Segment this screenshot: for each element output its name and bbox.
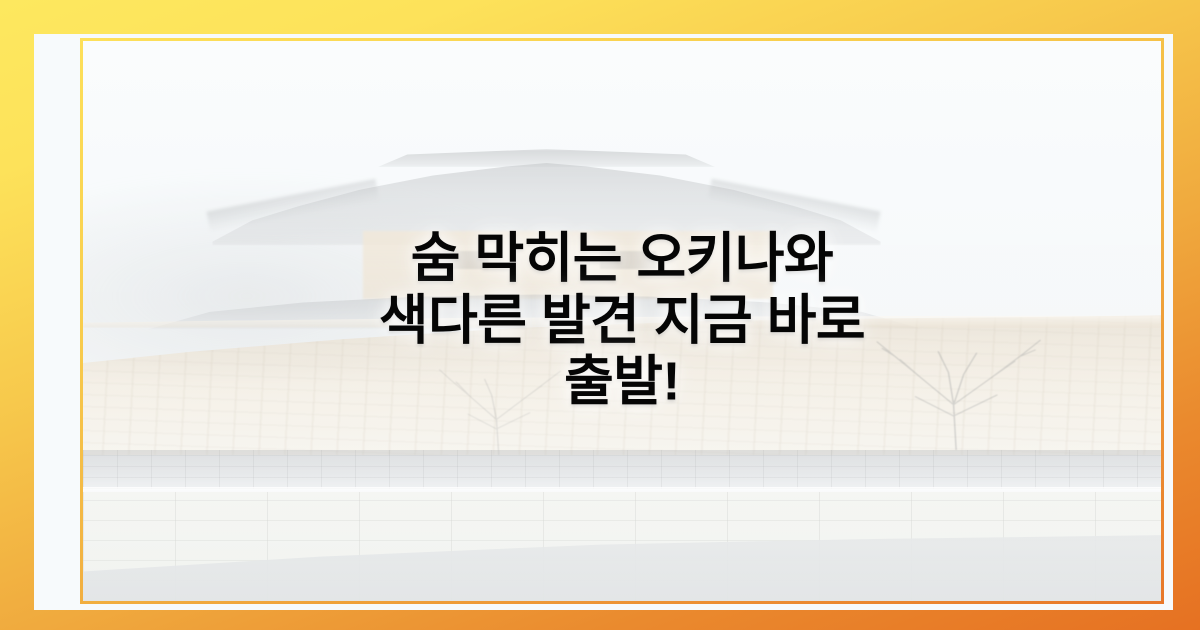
photo-inner-frame: 숨 막히는 오키나와 색다른 발견 지금 바로 출발! (80, 38, 1164, 604)
banner-mat: 숨 막히는 오키나와 색다른 발견 지금 바로 출발! (34, 34, 1173, 610)
promo-banner: 숨 막히는 오키나와 색다른 발견 지금 바로 출발! (0, 0, 1200, 630)
headline-block: 숨 막히는 오키나와 색다른 발견 지금 바로 출발! (83, 229, 1161, 414)
headline-line-2: 색다른 발견 지금 바로 (123, 290, 1121, 352)
dark-brick-course (83, 450, 1161, 489)
headline-line-3: 출발! (123, 352, 1121, 414)
headline-line-1: 숨 막히는 오키나와 (123, 229, 1121, 291)
